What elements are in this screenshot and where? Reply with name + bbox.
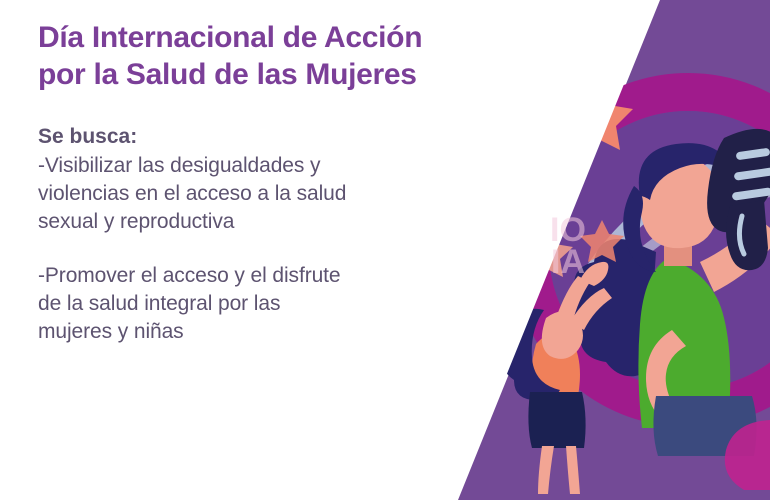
objective-paragraph-1: -Visibilizar las desigualdades y violenc… — [38, 152, 498, 236]
paragraph-spacer — [38, 236, 498, 262]
objective-paragraph-2: -Promover el acceso y el disfrute de la … — [38, 262, 498, 346]
girl-skirt — [528, 392, 585, 448]
text-column: Día Internacional de Acción por la Salud… — [38, 20, 498, 346]
page-title: Día Internacional de Acción por la Salud… — [38, 20, 498, 93]
lead-in-text: Se busca: — [38, 123, 498, 150]
poster-canvas: IO IA Día Internacional de Acción por la… — [0, 0, 770, 500]
